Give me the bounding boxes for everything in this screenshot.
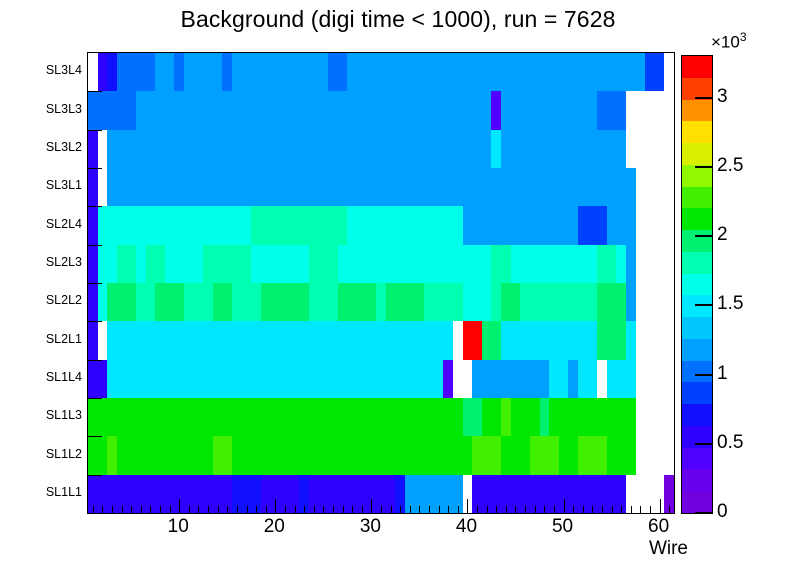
heatmap-cell bbox=[338, 168, 347, 206]
heatmap-cell bbox=[98, 91, 107, 130]
heatmap-cell bbox=[376, 283, 386, 321]
heatmap-cell bbox=[280, 53, 290, 91]
heatmap-cell bbox=[242, 398, 251, 436]
x-axis-tick bbox=[621, 506, 622, 513]
x-axis-tick bbox=[179, 499, 180, 513]
heatmap-cell bbox=[107, 436, 117, 475]
x-axis-tick bbox=[343, 506, 344, 513]
heatmap-cell bbox=[194, 283, 203, 321]
heatmap-cell bbox=[568, 168, 578, 206]
heatmap-cell bbox=[347, 436, 357, 475]
y-axis-tick bbox=[88, 168, 102, 169]
heatmap-cell bbox=[482, 398, 491, 436]
heatmap-cell bbox=[194, 168, 203, 206]
heatmap-cell bbox=[174, 245, 184, 283]
heatmap-cell bbox=[319, 168, 328, 206]
heatmap-cell bbox=[184, 360, 194, 398]
heatmap-cell bbox=[290, 168, 299, 206]
x-axis-tick bbox=[208, 506, 209, 513]
y-axis-label: SL2L4 bbox=[10, 218, 82, 230]
heatmap-cell bbox=[616, 436, 626, 475]
heatmap-cell bbox=[232, 91, 242, 130]
heatmap-cell bbox=[626, 283, 636, 321]
heatmap-cell bbox=[511, 130, 520, 168]
heatmap-cell bbox=[290, 398, 299, 436]
heatmap-cell bbox=[117, 398, 126, 436]
heatmap-cell bbox=[395, 398, 405, 436]
x-axis-tick bbox=[631, 506, 632, 513]
heatmap-cell bbox=[607, 53, 616, 91]
heatmap-cell bbox=[395, 360, 405, 398]
x-axis-tick bbox=[506, 506, 507, 513]
heatmap-cell bbox=[184, 168, 194, 206]
x-axis-tick bbox=[400, 506, 401, 513]
heatmap-cell bbox=[203, 53, 213, 91]
heatmap-cell bbox=[242, 168, 251, 206]
heatmap-cell bbox=[261, 91, 271, 130]
heatmap-cell bbox=[299, 91, 309, 130]
heatmap-cell bbox=[588, 206, 597, 245]
heatmap-cell bbox=[155, 168, 165, 206]
heatmap-cell bbox=[453, 91, 463, 130]
heatmap-cell bbox=[549, 91, 559, 130]
heatmap-cell bbox=[491, 360, 501, 398]
heatmap-cell bbox=[626, 360, 636, 398]
heatmap-cell bbox=[367, 168, 376, 206]
heatmap-cell bbox=[549, 321, 559, 360]
heatmap-cell bbox=[434, 206, 443, 245]
heatmap-cell bbox=[299, 360, 309, 398]
heatmap-cell bbox=[165, 130, 174, 168]
heatmap-cell bbox=[107, 321, 117, 360]
heatmap-cell bbox=[117, 206, 126, 245]
heatmap-cell bbox=[126, 168, 136, 206]
page-title: Background (digi time < 1000), run = 762… bbox=[0, 6, 796, 33]
heatmap-cell bbox=[347, 321, 357, 360]
heatmap-cell bbox=[415, 245, 424, 283]
heatmap-cell bbox=[424, 53, 434, 91]
heatmap-cell bbox=[290, 283, 299, 321]
heatmap-cell bbox=[376, 130, 386, 168]
heatmap-cell bbox=[530, 245, 540, 283]
heatmap-cell bbox=[98, 398, 107, 436]
heatmap-cell bbox=[299, 321, 309, 360]
y-axis-tick bbox=[88, 91, 102, 92]
heatmap-cell bbox=[271, 436, 280, 475]
heatmap-cell bbox=[463, 245, 472, 283]
heatmap-cell bbox=[213, 130, 222, 168]
heatmap-cell bbox=[203, 130, 213, 168]
heatmap-cell bbox=[338, 245, 347, 283]
colorbar-tick-label: 1.5 bbox=[717, 293, 743, 315]
heatmap-cell bbox=[165, 91, 174, 130]
heatmap-cell bbox=[482, 53, 491, 91]
heatmap-cell bbox=[107, 283, 117, 321]
heatmap-cell bbox=[357, 360, 367, 398]
heatmap-cell bbox=[415, 130, 424, 168]
heatmap-cell bbox=[520, 130, 530, 168]
heatmap-cell bbox=[607, 436, 616, 475]
heatmap-cell bbox=[511, 206, 520, 245]
heatmap-cell bbox=[434, 436, 443, 475]
heatmap-cell bbox=[261, 398, 271, 436]
x-axis-tick bbox=[352, 506, 353, 513]
heatmap-cell bbox=[540, 436, 549, 475]
heatmap-cell bbox=[126, 91, 136, 130]
heatmap-cell bbox=[165, 283, 174, 321]
heatmap-cell bbox=[88, 398, 98, 436]
heatmap-cell bbox=[222, 206, 232, 245]
heatmap-cell bbox=[222, 91, 232, 130]
heatmap-cell bbox=[347, 91, 357, 130]
heatmap-cell bbox=[117, 436, 126, 475]
heatmap-cell bbox=[501, 130, 511, 168]
heatmap-cell bbox=[184, 321, 194, 360]
heatmap-cell bbox=[88, 245, 98, 283]
heatmap-cell bbox=[568, 436, 578, 475]
heatmap-cell bbox=[290, 130, 299, 168]
heatmap-cell bbox=[443, 53, 453, 91]
heatmap-cell bbox=[578, 436, 588, 475]
heatmap-cell bbox=[530, 360, 540, 398]
heatmap-cell bbox=[309, 206, 319, 245]
heatmap-cell bbox=[271, 360, 280, 398]
heatmap-cell bbox=[607, 321, 616, 360]
heatmap-cell bbox=[146, 130, 155, 168]
heatmap-cell bbox=[107, 245, 117, 283]
heatmap-cell bbox=[501, 168, 511, 206]
heatmap-cell bbox=[405, 398, 415, 436]
heatmap-cell bbox=[174, 398, 184, 436]
heatmap-cell bbox=[520, 53, 530, 91]
heatmap-cell bbox=[203, 206, 213, 245]
heatmap-cell bbox=[280, 91, 290, 130]
heatmap-cell bbox=[232, 398, 242, 436]
heatmap-cell bbox=[136, 436, 146, 475]
heatmap-cell bbox=[280, 360, 290, 398]
x-axis-tick bbox=[362, 506, 363, 513]
heatmap-cell bbox=[472, 436, 482, 475]
heatmap-cell bbox=[424, 130, 434, 168]
heatmap-cell bbox=[251, 436, 261, 475]
heatmap-cell bbox=[443, 283, 453, 321]
heatmap-cell bbox=[491, 206, 501, 245]
x-axis-tick bbox=[256, 506, 257, 513]
heatmap-cell bbox=[347, 130, 357, 168]
heatmap-cell bbox=[309, 91, 319, 130]
heatmap-cell bbox=[213, 283, 222, 321]
heatmap-cell bbox=[472, 283, 482, 321]
heatmap-cell bbox=[597, 283, 607, 321]
x-axis-tick bbox=[93, 506, 94, 513]
heatmap-cell bbox=[463, 321, 472, 360]
heatmap-cell bbox=[367, 130, 376, 168]
heatmap-cell bbox=[434, 245, 443, 283]
heatmap-cell bbox=[540, 130, 549, 168]
heatmap-cell bbox=[338, 130, 347, 168]
x-axis-tick bbox=[160, 506, 161, 513]
x-axis-title: Wire bbox=[0, 538, 688, 560]
heatmap-cell bbox=[309, 168, 319, 206]
heatmap-cell bbox=[616, 53, 626, 91]
heatmap-cell bbox=[482, 168, 491, 206]
heatmap-cell bbox=[357, 283, 367, 321]
heatmap-cell bbox=[309, 360, 319, 398]
heatmap-cell bbox=[559, 245, 568, 283]
heatmap-cell bbox=[280, 283, 290, 321]
heatmap-cell bbox=[165, 321, 174, 360]
y-axis-label: SL1L1 bbox=[10, 486, 82, 498]
heatmap-cell bbox=[98, 206, 107, 245]
heatmap-cell bbox=[88, 168, 98, 206]
heatmap-cell bbox=[559, 206, 568, 245]
x-axis-tick bbox=[237, 506, 238, 513]
heatmap-cell bbox=[482, 130, 491, 168]
heatmap-cell bbox=[338, 206, 347, 245]
heatmap-cell bbox=[280, 321, 290, 360]
heatmap-cell bbox=[386, 321, 395, 360]
heatmap-cell bbox=[319, 398, 328, 436]
heatmap-cell bbox=[511, 91, 520, 130]
colorbar-exponent: ×103 bbox=[711, 30, 747, 53]
heatmap-cell bbox=[511, 168, 520, 206]
heatmap-cell bbox=[126, 130, 136, 168]
heatmap-cell bbox=[607, 245, 616, 283]
heatmap-cell bbox=[597, 321, 607, 360]
heatmap-cell bbox=[549, 360, 559, 398]
heatmap-cell bbox=[415, 53, 424, 91]
heatmap-cell bbox=[232, 130, 242, 168]
heatmap-cell bbox=[520, 168, 530, 206]
heatmap-cell bbox=[367, 53, 376, 91]
heatmap-cell bbox=[357, 53, 367, 91]
x-axis-tick bbox=[333, 506, 334, 513]
x-axis-tick bbox=[371, 499, 372, 513]
heatmap-cell bbox=[520, 245, 530, 283]
heatmap-cell bbox=[194, 245, 203, 283]
heatmap-cell bbox=[463, 283, 472, 321]
x-axis-tick bbox=[218, 506, 219, 513]
heatmap-cell bbox=[405, 245, 415, 283]
heatmap-cell bbox=[203, 91, 213, 130]
heatmap-cell bbox=[491, 91, 501, 130]
heatmap-cell bbox=[443, 168, 453, 206]
heatmap-cell bbox=[607, 168, 616, 206]
heatmap-cell bbox=[136, 91, 146, 130]
heatmap-cell bbox=[136, 360, 146, 398]
heatmap-cell bbox=[424, 360, 434, 398]
heatmap-cell bbox=[357, 245, 367, 283]
heatmap-cell bbox=[174, 360, 184, 398]
heatmap-cell bbox=[463, 398, 472, 436]
heatmap-cell bbox=[194, 206, 203, 245]
heatmap-cell bbox=[184, 283, 194, 321]
heatmap-cell bbox=[472, 206, 482, 245]
x-axis-tick bbox=[487, 506, 488, 513]
heatmap-cell bbox=[511, 53, 520, 91]
heatmap-cell bbox=[386, 130, 395, 168]
heatmap-cell bbox=[434, 91, 443, 130]
heatmap-cell bbox=[616, 398, 626, 436]
x-axis-label: 40 bbox=[456, 516, 477, 538]
heatmap-cell bbox=[549, 53, 559, 91]
heatmap-cell bbox=[251, 130, 261, 168]
heatmap-cell bbox=[136, 53, 146, 91]
heatmap-cell bbox=[213, 245, 222, 283]
heatmap-cell bbox=[597, 91, 607, 130]
heatmap-cell bbox=[184, 245, 194, 283]
heatmap-cell bbox=[107, 206, 117, 245]
heatmap-cell bbox=[251, 53, 261, 91]
heatmap-cell bbox=[174, 436, 184, 475]
heatmap-cell bbox=[434, 321, 443, 360]
heatmap-cell bbox=[261, 245, 271, 283]
heatmap-cell bbox=[136, 168, 146, 206]
heatmap-cell bbox=[299, 53, 309, 91]
heatmap-cell bbox=[290, 321, 299, 360]
heatmap-cell bbox=[578, 91, 588, 130]
x-axis-label: 30 bbox=[360, 516, 381, 538]
heatmap-cell bbox=[194, 130, 203, 168]
heatmap-cell bbox=[328, 398, 338, 436]
x-axis-tick bbox=[429, 506, 430, 513]
heatmap-cell bbox=[626, 436, 636, 475]
heatmap-cell bbox=[520, 91, 530, 130]
heatmap-cell bbox=[232, 283, 242, 321]
heatmap-cell bbox=[357, 168, 367, 206]
heatmap-cell bbox=[578, 206, 588, 245]
heatmap-cell bbox=[405, 91, 415, 130]
y-axis-label: SL2L2 bbox=[10, 294, 82, 306]
heatmap-cell bbox=[194, 436, 203, 475]
heatmap-cell bbox=[328, 130, 338, 168]
x-axis-tick bbox=[189, 506, 190, 513]
heatmap-cell bbox=[540, 245, 549, 283]
heatmap-cell bbox=[88, 91, 98, 130]
heatmap-cell bbox=[251, 360, 261, 398]
heatmap-cell bbox=[588, 130, 597, 168]
heatmap-cell bbox=[597, 245, 607, 283]
x-axis-tick bbox=[640, 506, 641, 513]
heatmap-cell bbox=[597, 436, 607, 475]
heatmap-cell bbox=[386, 206, 395, 245]
heatmap-cell bbox=[290, 360, 299, 398]
heatmap-cell bbox=[616, 130, 626, 168]
heatmap-cell bbox=[290, 206, 299, 245]
heatmap-cell bbox=[338, 436, 347, 475]
heatmap-cell bbox=[520, 360, 530, 398]
heatmap-cell bbox=[616, 360, 626, 398]
heatmap-cell bbox=[146, 321, 155, 360]
heatmap-cell bbox=[203, 245, 213, 283]
heatmap-cell bbox=[453, 283, 463, 321]
heatmap-cell bbox=[415, 436, 424, 475]
x-axis-label: 10 bbox=[168, 516, 189, 538]
heatmap-cell bbox=[405, 321, 415, 360]
x-axis-label: 50 bbox=[552, 516, 573, 538]
heatmap-cell bbox=[616, 91, 626, 130]
heatmap-cell bbox=[242, 91, 251, 130]
heatmap-cell bbox=[357, 130, 367, 168]
heatmap-cell bbox=[549, 245, 559, 283]
y-axis-label: SL3L3 bbox=[10, 103, 82, 115]
heatmap-cell bbox=[88, 130, 98, 168]
x-axis-tick bbox=[535, 506, 536, 513]
heatmap-cell bbox=[280, 168, 290, 206]
heatmap-cell bbox=[424, 436, 434, 475]
heatmap-cell bbox=[434, 283, 443, 321]
heatmap-cell bbox=[222, 360, 232, 398]
heatmap-cell bbox=[184, 53, 194, 91]
heatmap-cell bbox=[88, 206, 98, 245]
heatmap-cell bbox=[299, 245, 309, 283]
heatmap-cell bbox=[328, 283, 338, 321]
heatmap-cell bbox=[626, 321, 636, 360]
heatmap-cell bbox=[530, 436, 540, 475]
heatmap-cell bbox=[290, 245, 299, 283]
heatmap-cell bbox=[347, 398, 357, 436]
heatmap-cell bbox=[155, 436, 165, 475]
heatmap-cell bbox=[395, 168, 405, 206]
heatmap-cell bbox=[309, 53, 319, 91]
x-axis-tick bbox=[323, 506, 324, 513]
heatmap-cell bbox=[117, 360, 126, 398]
x-axis-tick bbox=[227, 506, 228, 513]
heatmap-cell bbox=[386, 53, 395, 91]
y-axis-labels: SL3L4SL3L3SL3L2SL3L1SL2L4SL2L3SL2L2SL2L1… bbox=[0, 52, 82, 512]
heatmap-cell bbox=[184, 130, 194, 168]
heatmap-cell bbox=[540, 283, 549, 321]
heatmap-cell bbox=[194, 91, 203, 130]
heatmap-cell bbox=[395, 130, 405, 168]
heatmap-cell bbox=[655, 53, 664, 91]
heatmap-cell bbox=[117, 245, 126, 283]
heatmap-cell bbox=[501, 53, 511, 91]
heatmap-cell bbox=[261, 130, 271, 168]
heatmap-cell bbox=[415, 206, 424, 245]
y-axis-label: SL1L2 bbox=[10, 448, 82, 460]
heatmap-cell bbox=[463, 436, 472, 475]
heatmap-cell bbox=[98, 245, 107, 283]
heatmap-cell bbox=[155, 245, 165, 283]
heatmap-cell bbox=[405, 53, 415, 91]
x-axis-tick bbox=[285, 506, 286, 513]
heatmap-cell bbox=[626, 245, 636, 283]
x-axis-tick bbox=[295, 506, 296, 513]
heatmap-cell bbox=[540, 91, 549, 130]
heatmap-cell bbox=[107, 360, 117, 398]
colorbar-tick-label: 0 bbox=[717, 501, 728, 523]
heatmap-cell bbox=[588, 53, 597, 91]
heatmap-cell bbox=[357, 398, 367, 436]
heatmap-cell bbox=[280, 245, 290, 283]
heatmap-cell bbox=[357, 321, 367, 360]
heatmap-cell bbox=[242, 130, 251, 168]
heatmap-cell bbox=[194, 321, 203, 360]
heatmap-cell bbox=[405, 436, 415, 475]
heatmap-cell bbox=[271, 91, 280, 130]
colorbar-tick-label: 2 bbox=[717, 224, 728, 246]
heatmap-cell bbox=[165, 53, 174, 91]
x-axis-tick bbox=[573, 506, 574, 513]
heatmap-cell bbox=[222, 53, 232, 91]
heatmap-cell bbox=[559, 53, 568, 91]
heatmap-cell bbox=[559, 360, 568, 398]
heatmap-cell bbox=[347, 206, 357, 245]
heatmap-cell bbox=[501, 321, 511, 360]
heatmap-cell bbox=[415, 321, 424, 360]
heatmap-cell bbox=[386, 168, 395, 206]
